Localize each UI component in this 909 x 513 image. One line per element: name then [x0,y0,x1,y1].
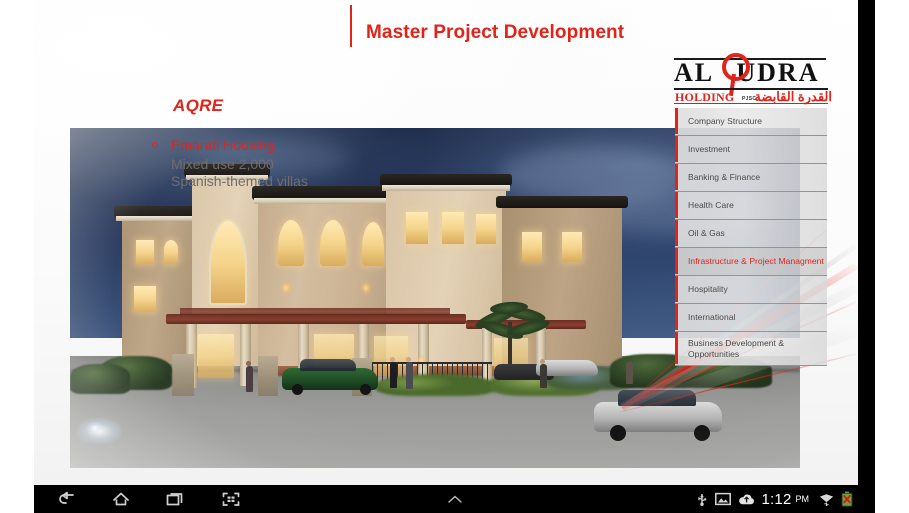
person-head [540,359,545,364]
cornice [116,216,200,221]
bullet-description: Mixed use 2,000 Spanish-themed villas [171,156,308,190]
al-qudra-logo[interactable]: ALQUDRA HOLDING PJSC القدرة القابضة [672,52,834,104]
usb-icon [696,491,708,507]
nav-item-label: International [688,312,735,323]
nav-item-business-development-opportunities[interactable]: Business Development & Opportunities [675,332,827,366]
battery-error-icon [841,491,853,507]
nav-item-label: Business Development & Opportunities [688,338,784,360]
nav-item-banking-finance[interactable]: Banking & Finance [675,164,827,192]
window [442,212,464,244]
cornice [254,198,392,204]
nav-item-health-care[interactable]: Health Care [675,192,827,220]
window [406,212,428,244]
page-title: Master Project Development [366,22,624,44]
window [362,222,384,266]
entry-glow [198,334,234,378]
window [522,232,542,262]
car-wheel [292,384,303,395]
porch-beam [166,314,466,324]
chevron-up-icon[interactable] [444,493,466,505]
status-clock: 1:12 [762,492,792,507]
person-figure [626,362,633,384]
nav-item-label: Hospitality [688,284,728,295]
villa-roof-rear [496,196,628,208]
window-frame [209,219,247,305]
window [476,214,496,244]
window [320,220,346,266]
status-clock-ampm: PM [796,494,810,504]
recent-apps-icon[interactable] [164,489,186,509]
person-head [390,357,395,362]
nav-item-label: Company Structure [688,116,762,127]
cornice [382,185,510,191]
presentation-slide: Master Project Development ALQUDRA HOLDI… [34,0,858,485]
window [278,220,304,266]
window [134,286,156,312]
tablet-device: Master Project Development ALQUDRA HOLDI… [0,0,909,513]
nav-item-label: Health Care [688,200,734,211]
nav-item-investment[interactable]: Investment [675,136,827,164]
wifi-icon [819,492,834,507]
hedge [70,364,130,394]
car-wheel [694,425,710,441]
screenshot-icon[interactable] [220,489,242,509]
nav-item-infrastructure-project-management[interactable]: Infrastructure & Project Managment [675,248,827,276]
person-figure [246,366,253,392]
screenshot-captured-icon [715,492,731,506]
project-subtitle: AQRE [173,96,223,116]
person-figure [390,362,397,388]
window [136,240,154,264]
nav-item-company-structure[interactable]: Company Structure [675,108,827,136]
person-figure [406,362,413,389]
car-wheel [360,384,371,395]
nav-item-hospitality[interactable]: Hospitality [675,276,827,304]
android-system-bar: 1:12 PM [34,485,875,513]
nav-item-oil-gas[interactable]: Oil & Gas [675,220,827,248]
logo-wordmark: ALQUDRA [674,58,832,88]
porch-beam [180,308,450,315]
circle-bullet-icon [152,142,158,148]
nav-item-label: Investment [688,144,730,155]
lamp-glow [358,278,374,298]
window [164,240,178,264]
logo-rule-bottom [674,103,828,104]
villa-left-wing [122,214,194,364]
car-window [618,390,696,406]
section-nav-menu[interactable]: Company Structure Investment Banking & F… [675,108,827,366]
car-wheel [610,425,626,441]
logo-text-al: AL [674,58,714,87]
stone-pillar [172,354,194,396]
headlight-flare [84,420,106,436]
person-figure [540,364,547,388]
window [562,232,582,262]
nav-item-international[interactable]: International [675,304,827,332]
back-icon[interactable] [56,489,78,509]
cloud-upload-icon [738,493,755,506]
bullet-heading: Emarati Housing [171,137,275,153]
nav-item-label: Oil & Gas [688,228,725,239]
lamp-glow [278,278,294,298]
nav-item-label: Banking & Finance [688,172,760,183]
person-head [406,357,411,362]
logo-q-ring-icon [722,53,750,81]
home-icon[interactable] [110,489,132,509]
car-window [300,359,356,371]
person-head [246,361,251,366]
status-icon-cluster[interactable]: 1:12 PM [696,485,854,513]
nav-item-label: Infrastructure & Project Managment [688,256,824,267]
title-accent-rule [350,5,352,47]
stone-pillar [258,356,278,396]
